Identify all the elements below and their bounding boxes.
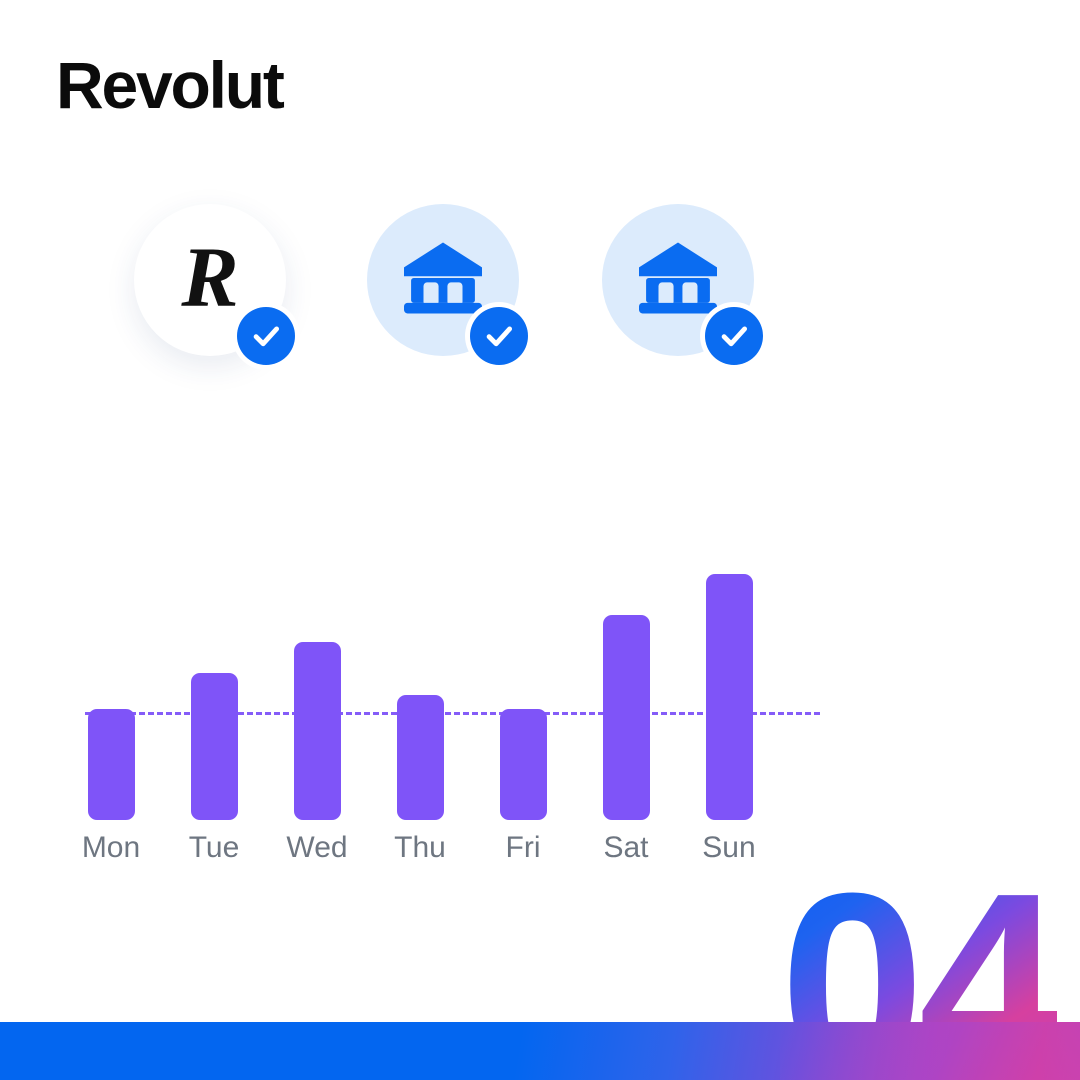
bank-icon [400,239,486,322]
axis-label-sat: Sat [566,833,686,863]
check-icon [705,307,763,365]
check-icon [237,307,295,365]
weekly-spend-chart: MonTueWedThuFriSatSun [85,545,845,885]
slide-canvas: Revolut R [0,0,1080,1080]
chart-bar[interactable] [294,642,341,820]
chart-x-axis: MonTueWedThuFriSatSun [85,833,845,875]
account-badge-bank-2[interactable] [602,204,754,356]
chart-plot-area [85,545,845,830]
axis-label-tue: Tue [154,833,274,863]
account-badge-revolut[interactable]: R [134,204,286,356]
bank-icon [635,239,721,322]
chart-bar[interactable] [500,709,547,820]
verified-badge [465,302,533,370]
chart-bar[interactable] [706,574,753,820]
axis-label-wed: Wed [257,833,377,863]
account-badge-bank-1[interactable] [367,204,519,356]
chart-bar[interactable] [88,709,135,820]
check-icon [470,307,528,365]
axis-label-sun: Sun [669,833,789,863]
chart-bar[interactable] [191,673,238,820]
footer-bar [0,1022,1080,1080]
axis-label-thu: Thu [360,833,480,863]
account-badges-row: R [0,0,1080,420]
axis-label-fri: Fri [463,833,583,863]
footer-gradient-glow [780,1022,1080,1080]
verified-badge [232,302,300,370]
chart-bar[interactable] [603,615,650,820]
chart-average-line [85,712,820,715]
verified-badge [700,302,768,370]
axis-label-mon: Mon [51,833,171,863]
revolut-monogram-icon: R [181,234,238,320]
